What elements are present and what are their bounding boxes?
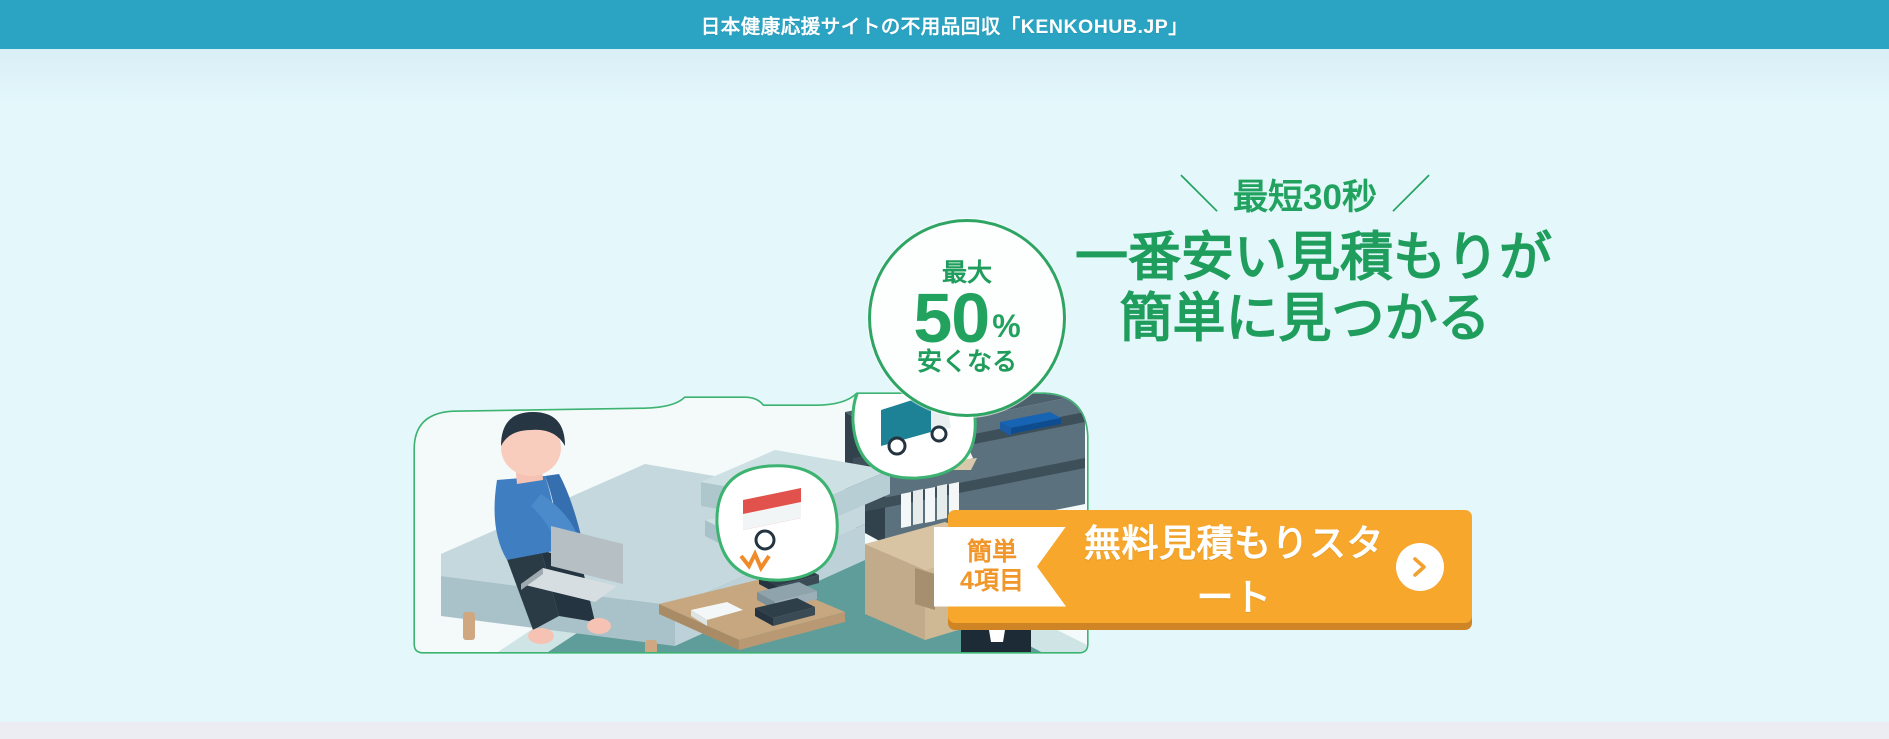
flag-icon-bubble (717, 466, 837, 580)
badge-number-row: 50 % (913, 288, 1020, 348)
badge-bottom-label: 安くなる (917, 350, 1017, 375)
hero-headline-block: ＼ 最短30秒 ／ 一番安い見積もりが 簡単に見つかる (1075, 169, 1535, 350)
page-bottom-strip (0, 722, 1889, 739)
cta-ribbon-line2: 4項目 (960, 567, 1024, 596)
site-title: 日本健康応援サイトの不用品回収「KENKOHUB.JP」 (701, 10, 1188, 39)
hero-headline: 一番安い見積もりが 簡単に見つかる (1075, 228, 1535, 350)
hero-tagline-row: ＼ 最短30秒 ／ (1075, 169, 1535, 220)
hero-section: 最大 50 % 安くなる ＼ 最短30秒 ／ 一番安い見積もりが 簡単に見つかる… (0, 49, 1889, 722)
free-quote-start-button[interactable]: 簡単 4項目 無料見積もりスタート (948, 510, 1472, 623)
slash-left-decoration: ＼ (1179, 175, 1219, 215)
slash-right-decoration: ／ (1391, 175, 1431, 215)
hero-headline-line1: 一番安い見積もりが (1075, 228, 1552, 287)
chevron-right-icon (1396, 543, 1444, 591)
cta-ribbon-line1: 簡単 (967, 538, 1017, 567)
hero-headline-line2: 簡単に見つかる (1075, 289, 1535, 350)
potted-plant (759, 354, 811, 406)
site-header-bar: 日本健康応援サイトの不用品回収「KENKOHUB.JP」 (0, 0, 1889, 49)
page-root: 日本健康応援サイトの不用品回収「KENKOHUB.JP」 (0, 0, 1889, 739)
cta-ribbon-badge: 簡単 4項目 (934, 527, 1066, 607)
badge-number: 50 (913, 288, 989, 348)
cta-label: 無料見積もりスタート (1066, 513, 1396, 621)
badge-percent-sign: % (992, 313, 1020, 341)
discount-badge: 最大 50 % 安くなる (868, 219, 1066, 417)
hero-tagline: 最短30秒 (1233, 169, 1377, 220)
